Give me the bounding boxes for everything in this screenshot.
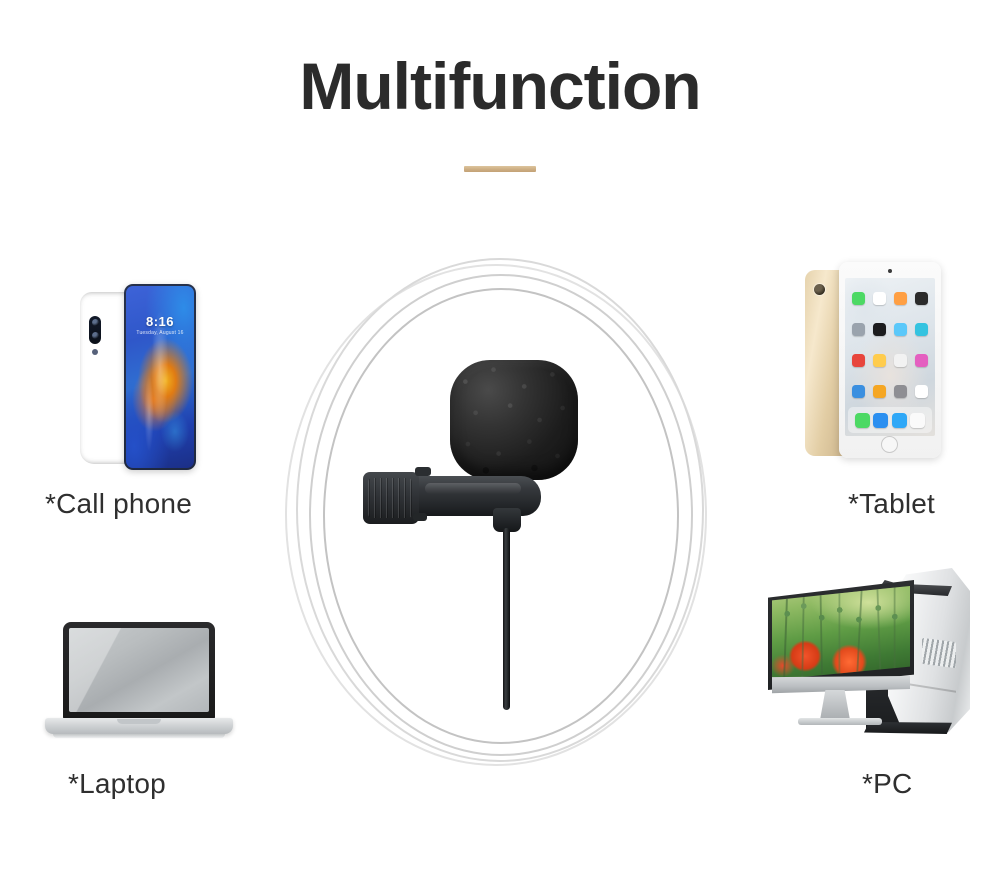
smartphone-flash-icon (92, 349, 98, 355)
smartphone-date: Tuesday, August 16 (126, 330, 194, 336)
smartphone-icon: 8:16 Tuesday, August 16 (80, 284, 196, 470)
tablet-app-grid (845, 278, 935, 407)
tablet-app-icon[interactable] (873, 385, 886, 398)
tablet-dock-icon[interactable] (910, 413, 925, 428)
tablet-icon (805, 262, 941, 462)
microphone-cable (503, 528, 510, 710)
tablet-app-icon[interactable] (873, 323, 886, 336)
microphone-clip-grip-ridges (368, 478, 412, 518)
laptop-lid (63, 622, 215, 720)
tablet-app-icon[interactable] (873, 354, 886, 367)
tablet-app-icon[interactable] (894, 323, 907, 336)
laptop-screen (69, 628, 209, 712)
microphone-foam-windscreen-icon (450, 360, 578, 480)
tablet-app-icon[interactable] (873, 292, 886, 305)
pc-monitor-stand-foot (798, 718, 882, 725)
smartphone-screen: 8:16 Tuesday, August 16 (126, 286, 194, 468)
desktop-computer-icon (768, 562, 978, 748)
caption-pc: *PC (862, 768, 912, 800)
page-title: Multifunction (0, 52, 1000, 121)
laptop-trackpad-notch (117, 719, 161, 724)
microphone-clip-hinge-bottom (413, 513, 427, 521)
laptop-foot (53, 734, 225, 738)
lavalier-microphone (355, 360, 555, 720)
tablet-home-button[interactable] (881, 436, 898, 453)
tablet-app-icon[interactable] (852, 323, 865, 336)
apple-logo-icon (834, 777, 842, 786)
caption-tablet: *Tablet (848, 488, 935, 520)
tablet-app-icon[interactable] (894, 354, 907, 367)
tablet-front-panel (839, 262, 941, 458)
tablet-app-icon[interactable] (915, 354, 928, 367)
tablet-app-icon[interactable] (915, 292, 928, 305)
infographic-page: Multifunction 8:16 Tuesday, August 16 (0, 0, 1000, 871)
title-divider (464, 166, 536, 172)
tablet-dock-icon[interactable] (855, 413, 870, 428)
tablet-dock (848, 407, 932, 433)
caption-call-phone: *Call phone (45, 488, 192, 520)
tablet-app-icon[interactable] (915, 323, 928, 336)
tablet-app-icon[interactable] (894, 292, 907, 305)
tablet-screen (845, 278, 935, 436)
tablet-dock-icon[interactable] (873, 413, 888, 428)
pc-tower-vent-grille-icon (922, 638, 956, 668)
pc-wallpaper-buds (772, 585, 910, 681)
smartphone-clock: 8:16 (126, 314, 194, 329)
pc-monitor (768, 580, 914, 730)
tablet-app-icon[interactable] (915, 385, 928, 398)
caption-laptop: *Laptop (68, 768, 166, 800)
tablet-rear-camera-icon (814, 284, 825, 295)
pc-monitor-stand-neck (820, 690, 850, 720)
tablet-app-icon[interactable] (852, 354, 865, 367)
laptop-icon (45, 622, 233, 742)
microphone-clip-hinge-top (415, 467, 431, 476)
smartphone-front-panel: 8:16 Tuesday, August 16 (124, 284, 196, 470)
tablet-app-icon[interactable] (894, 385, 907, 398)
tablet-dock-icon[interactable] (892, 413, 907, 428)
tablet-app-icon[interactable] (852, 385, 865, 398)
tablet-app-icon[interactable] (852, 292, 865, 305)
smartphone-camera-icon (89, 316, 101, 344)
pc-monitor-screen (772, 585, 910, 681)
